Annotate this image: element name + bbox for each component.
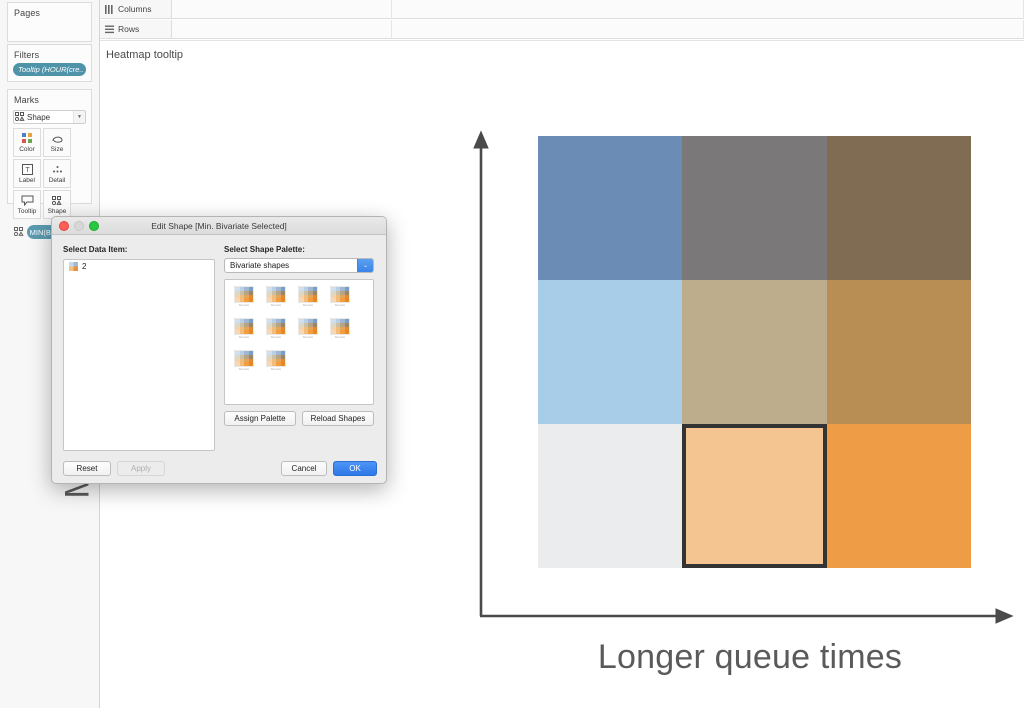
marks-button-detail[interactable]: Detail [43, 159, 71, 188]
shape-thumbnail[interactable]: Bivariate [329, 286, 351, 310]
label-icon: T [22, 163, 33, 176]
list-item[interactable]: 2 [64, 260, 214, 273]
rows-shelf-label: Rows [100, 20, 172, 38]
heatmap-cell-low-high[interactable] [827, 424, 971, 568]
size-icon [51, 132, 64, 145]
shape-thumbnail-caption: Bivariate [239, 304, 249, 308]
dialog-title: Edit Shape [Min. Bivariate Selected] [52, 221, 386, 231]
select-shape-palette-label: Select Shape Palette: [224, 245, 305, 254]
filters-card-title: Filters [8, 45, 91, 63]
rows-shelf-text: Rows [118, 24, 139, 34]
dialog-body: Select Data Item: 2 Select Shape Palette… [52, 235, 386, 484]
rows-shelf[interactable]: Rows [100, 20, 1024, 39]
marks-button-tooltip-label: Tooltip [18, 208, 37, 215]
bivariate-heatmap[interactable] [538, 136, 971, 568]
shape-thumbnail[interactable]: Bivariate [297, 286, 319, 310]
shape-thumbnail-caption: Bivariate [335, 304, 345, 308]
shape-thumbnail[interactable]: Bivariate [233, 350, 255, 374]
heatmap-cell-medium-low[interactable] [538, 280, 682, 424]
columns-shelf-label: Columns [100, 0, 172, 18]
shape-palette-dropdown[interactable]: Bivariate shapes ⌄ [224, 258, 374, 273]
shape-thumbnail[interactable]: Bivariate [297, 318, 319, 342]
heatmap-cell-low-medium[interactable] [682, 424, 826, 568]
edit-shape-dialog: Edit Shape [Min. Bivariate Selected] Sel… [51, 216, 387, 484]
shape-palette-selected-value: Bivariate shapes [225, 261, 357, 270]
heatmap-cell-low-low[interactable] [538, 424, 682, 568]
marks-button-label[interactable]: T Label [13, 159, 41, 188]
rows-drop-zone-2[interactable] [392, 20, 1024, 38]
heatmap-cell-high-high[interactable] [827, 136, 971, 280]
marks-button-size-label: Size [51, 146, 64, 153]
x-axis-label: Longer queue times [490, 638, 1010, 677]
sheet-title: Heatmap tooltip [106, 49, 183, 61]
columns-drop-zone-2[interactable] [392, 0, 1024, 18]
bivariate-shape-icon [266, 286, 286, 303]
app-window: Pages Filters Tooltip (HOUR(cre.. Marks [0, 0, 1024, 708]
marks-button-color[interactable]: Color [13, 128, 41, 157]
dialog-titlebar[interactable]: Edit Shape [Min. Bivariate Selected] [52, 217, 386, 235]
marks-card: Marks Shape ▼ [7, 89, 92, 204]
columns-shelf-text: Columns [118, 4, 152, 14]
shape-thumbnail[interactable]: Bivariate [265, 350, 287, 374]
shape-icon [14, 112, 26, 123]
shape-palette-grid[interactable]: BivariateBivariateBivariateBivariateBiva… [224, 279, 374, 405]
reset-button[interactable]: Reset [63, 461, 111, 476]
cancel-button[interactable]: Cancel [281, 461, 327, 476]
assign-palette-button[interactable]: Assign Palette [224, 411, 296, 426]
shape-thumbnail-caption: Bivariate [303, 304, 313, 308]
bivariate-shape-icon [234, 350, 254, 367]
filter-pill-tooltip[interactable]: Tooltip (HOUR(cre.. [13, 63, 86, 76]
chevron-down-icon[interactable]: ⌄ [357, 259, 373, 272]
bivariate-shape-icon [298, 318, 318, 335]
list-item-label: 2 [82, 262, 86, 271]
bivariate-shape-icon [330, 318, 350, 335]
marks-button-color-label: Color [19, 146, 35, 153]
shape-thumbnail-caption: Bivariate [239, 336, 249, 340]
shape-thumbnail[interactable]: Bivariate [233, 286, 255, 310]
shape-thumbnail[interactable]: Bivariate [329, 318, 351, 342]
pages-card-title: Pages [8, 3, 91, 21]
shape-thumbnail-caption: Bivariate [271, 336, 281, 340]
bivariate-shape-icon [234, 318, 254, 335]
chevron-down-icon[interactable]: ▼ [73, 111, 85, 123]
apply-button: Apply [117, 461, 165, 476]
shape-thumbnail[interactable]: Bivariate [265, 318, 287, 342]
shape-thumbnail-caption: Bivariate [271, 304, 281, 308]
rows-drop-zone-1[interactable] [172, 20, 392, 38]
marks-button-tooltip[interactable]: Tooltip [13, 190, 41, 219]
heatmap-cell-medium-high[interactable] [827, 280, 971, 424]
shape-thumbnail-caption: Bivariate [335, 336, 345, 340]
pages-card: Pages [7, 2, 92, 42]
ok-button[interactable]: OK [333, 461, 377, 476]
svg-text:T: T [25, 167, 30, 174]
mark-type-dropdown[interactable]: Shape ▼ [13, 110, 86, 124]
shape-thumbnail-caption: Bivariate [239, 368, 249, 372]
shape-thumbnail[interactable]: Bivariate [233, 318, 255, 342]
bivariate-shape-icon [330, 286, 350, 303]
columns-drop-zone-1[interactable] [172, 0, 392, 18]
shape-thumbnail-caption: Bivariate [271, 368, 281, 372]
heatmap-cell-high-low[interactable] [538, 136, 682, 280]
bivariate-shape-icon [266, 350, 286, 367]
columns-shelf[interactable]: Columns [100, 0, 1024, 19]
heatmap-cell-medium-medium[interactable] [682, 280, 826, 424]
bivariate-shape-icon [298, 286, 318, 303]
filters-card: Filters Tooltip (HOUR(cre.. [7, 44, 92, 82]
tooltip-icon [21, 194, 34, 207]
filter-pill-label: Tooltip (HOUR(cre.. [18, 65, 84, 74]
bivariate-shape-icon [266, 318, 286, 335]
shape-icon [13, 223, 25, 241]
select-data-item-label: Select Data Item: [63, 245, 127, 254]
marks-button-label-label: Label [19, 177, 35, 184]
color-icon [22, 132, 33, 145]
data-item-list[interactable]: 2 [63, 259, 215, 451]
marks-button-size[interactable]: Size [43, 128, 71, 157]
reload-shapes-button[interactable]: Reload Shapes [302, 411, 374, 426]
bivariate-shape-icon [234, 286, 254, 303]
rows-icon [105, 25, 114, 34]
heatmap-cell-high-medium[interactable] [682, 136, 826, 280]
shape-thumbnail-caption: Bivariate [303, 336, 313, 340]
shape-swatch-icon [69, 262, 78, 271]
shape-thumbnail[interactable]: Bivariate [265, 286, 287, 310]
mark-type-label: Shape [26, 113, 73, 122]
columns-icon [105, 5, 114, 14]
marks-button-detail-label: Detail [49, 177, 66, 184]
detail-icon [51, 163, 64, 176]
marks-card-title: Marks [8, 90, 91, 108]
